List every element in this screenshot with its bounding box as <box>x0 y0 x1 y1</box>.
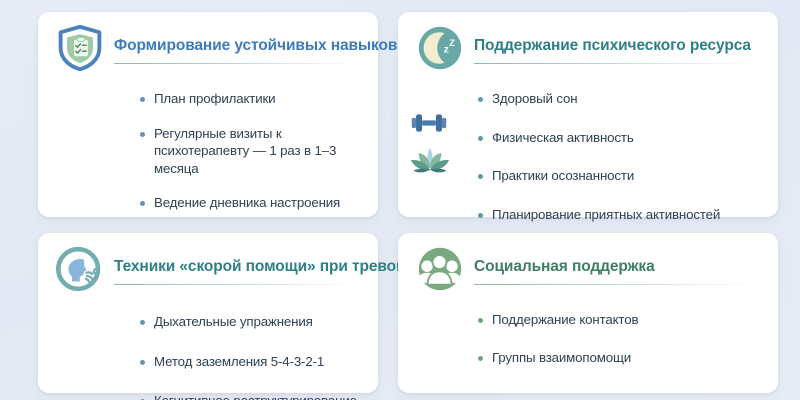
title-underline <box>474 284 756 286</box>
people-group-icon <box>416 245 464 293</box>
card-title: Техники «скорой помощи» при тревоге <box>114 258 364 276</box>
moon-sleep-icon: z Z <box>416 24 464 72</box>
list-item: Практики осознанности <box>478 167 760 185</box>
list-item: План профилактики <box>140 90 360 108</box>
lotus-icon <box>410 142 450 180</box>
svg-text:z: z <box>444 45 449 56</box>
shield-checklist-icon <box>56 24 104 72</box>
list-item: Ведение дневника настроения <box>140 194 360 212</box>
bullet-list: Дыхательные упражнения Метод заземления … <box>54 313 364 400</box>
card-title: Поддержание психического ресурса <box>474 37 764 55</box>
head-breathing-icon <box>56 245 104 293</box>
list-item: Здоровый сон <box>478 90 760 108</box>
card-title: Формирование устойчивых навыков <box>114 37 364 55</box>
list-item: Группы взаимопомощи <box>478 349 760 367</box>
infographic-card-grid: Формирование устойчивых навыков План про… <box>0 0 800 400</box>
title-underline <box>114 63 356 65</box>
card-header: Социальная поддержка <box>414 249 764 293</box>
title-underline <box>474 63 756 65</box>
card-emergency-techniques: Техники «скорой помощи» при тревоге Дыха… <box>38 233 378 393</box>
list-item: Метод заземления 5-4-3-2-1 <box>140 353 360 371</box>
title-underline <box>114 284 356 286</box>
card-header: Техники «скорой помощи» при тревоге <box>54 249 364 293</box>
bullet-list: Поддержание контактов Группы взаимопомощ… <box>414 311 764 366</box>
dumbbell-icon <box>410 108 448 138</box>
card-social-support: Социальная поддержка Поддержание контакт… <box>398 233 778 393</box>
list-item: Дыхательные упражнения <box>140 313 360 331</box>
list-item: Регулярные визиты к психотерапевту — 1 р… <box>140 125 360 178</box>
list-item: Когнитивное реструктурирование <box>140 392 360 400</box>
svg-text:Z: Z <box>449 38 455 48</box>
card-mental-resource: z Z Поддержание психического ресурса Здо… <box>398 12 778 217</box>
list-item: Физическая активность <box>478 129 760 147</box>
card-header: z Z Поддержание психического ресурса <box>414 28 764 72</box>
bullet-list: Здоровый сон Физическая активность Практ… <box>414 90 764 223</box>
card-header: Формирование устойчивых навыков <box>54 28 364 72</box>
list-item: Планирование приятных активностей <box>478 206 760 224</box>
list-item: Поддержание контактов <box>478 311 760 329</box>
card-title: Социальная поддержка <box>474 258 764 276</box>
card-skills: Формирование устойчивых навыков План про… <box>38 12 378 217</box>
